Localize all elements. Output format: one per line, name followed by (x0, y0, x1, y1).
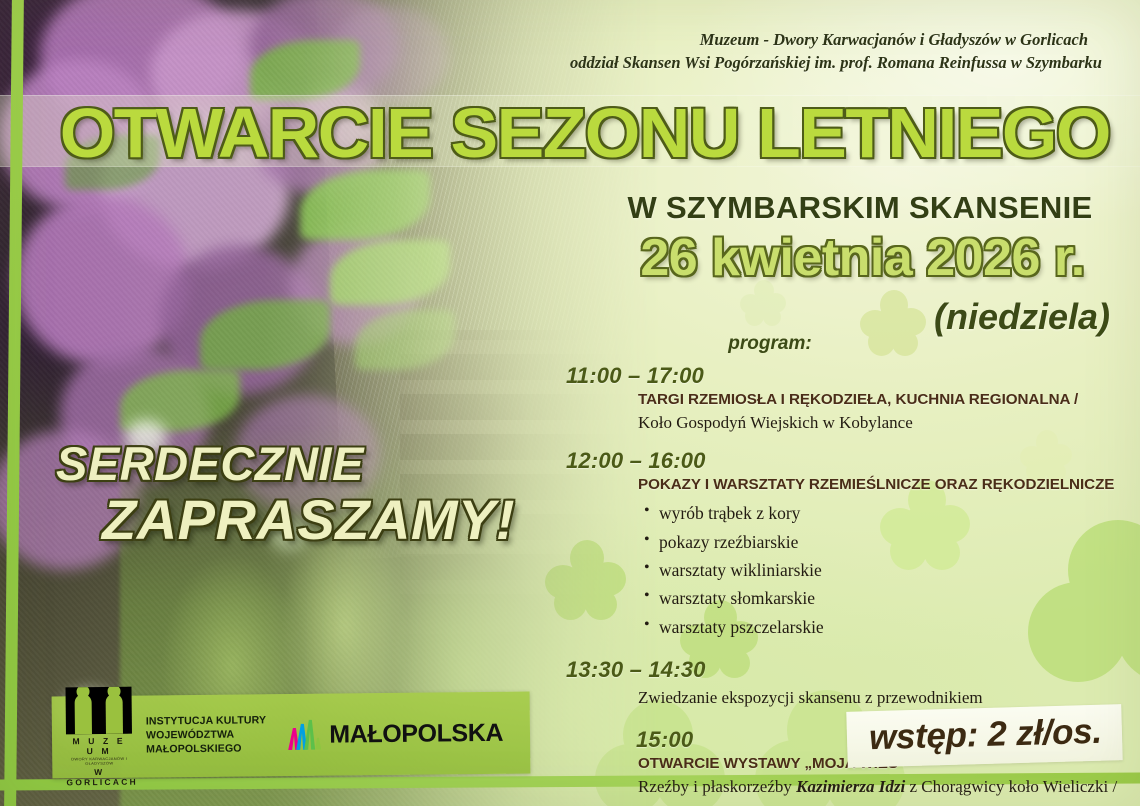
malopolska-wordmark: MAŁOPOLSKA (329, 718, 503, 749)
museum-logo-subline: DWORY KARWACJANÓW I GŁADYSZÓW (66, 756, 132, 766)
program-title: TARGI RZEMIOSŁA I RĘKODZIEŁA, KUCHNIA RE… (566, 391, 1126, 408)
malopolska-logo: MAŁOPOLSKA (288, 718, 503, 750)
institution-line-2: WOJEWÓDZTWA (146, 728, 266, 743)
museum-logo-name: M U Z E U M (66, 736, 132, 757)
price-text: wstęp: 2 zł/os. (869, 712, 1103, 757)
event-date-text: 26 kwietnia 2026 r. (640, 228, 1084, 288)
malopolska-mark-icon (288, 720, 322, 750)
subtitle: W SZYMBARSKIM SKANSENIE (600, 190, 1120, 226)
poster: Muzeum - Dwory Karwacjanów i Gładyszów w… (0, 0, 1140, 806)
institution-line-3: MAŁOPOLSKIEGO (146, 742, 266, 757)
program-description: Rzeźby i płaskorzeźby Kazimierza Idzi z … (566, 773, 1126, 800)
program-time: 12:00 – 16:00 (566, 448, 1126, 474)
program-title: POKAZY I WARSZTATY RZEMIEŚLNICZE ORAZ RĘ… (566, 476, 1126, 493)
program-description-pre: Rzeźby i płaskorzeźby (638, 777, 796, 796)
welcome-line-2: ZAPRASZAMY! (56, 489, 586, 551)
program-bullet-list: wyrób trąbek z kory pokazy rzeźbiarskie … (566, 499, 1126, 641)
institution-text: INSTYTUCJA KULTURY WOJEWÓDZTWA MAŁOPOLSK… (146, 714, 267, 757)
museum-logo-city: W GORLICACH (66, 767, 132, 788)
page-title-text: OTWARCIE SEZONU LETNIEGO (60, 96, 1110, 170)
footer-logo-bar: M U Z E U M DWORY KARWACJANÓW I GŁADYSZÓ… (52, 691, 531, 778)
list-item: warsztaty pszczelarskie (644, 613, 1126, 641)
welcome-headline: SERDECZNIE ZAPRASZAMY! (56, 437, 586, 551)
organizer-header: Muzeum - Dwory Karwacjanów i Gładyszów w… (402, 28, 1102, 75)
price-badge: wstęp: 2 zł/os. (846, 704, 1122, 768)
list-item: wyrób trąbek z kory (644, 499, 1126, 527)
program-time: 13:30 – 14:30 (566, 657, 1126, 683)
program-time: 11:00 – 17:00 (566, 363, 1126, 389)
artist-name: Kazimierza Idzi (796, 777, 905, 796)
page-title: OTWARCIE SEZONU LETNIEGO (70, 96, 1070, 170)
list-item: pokazy rzeźbiarskie (644, 528, 1126, 556)
museum-figures-icon (65, 687, 131, 735)
list-item: warsztaty słomkarskie (644, 584, 1126, 612)
program-description: Koło Gospodyń Wiejskich w Kobylance (566, 409, 1126, 436)
program-item: 12:00 – 16:00 POKAZY I WARSZTATY RZEMIEŚ… (566, 448, 1126, 641)
welcome-line-1: SERDECZNIE (56, 437, 586, 491)
organizer-line-2: oddział Skansen Wsi Pogórzańskiej im. pr… (402, 51, 1102, 74)
program-item: 11:00 – 17:00 TARGI RZEMIOSŁA I RĘKODZIE… (566, 363, 1126, 436)
event-date: 26 kwietnia 2026 r. (600, 228, 1125, 288)
organizer-line-1: Muzeum - Dwory Karwacjanów i Gładyszów w… (402, 28, 1102, 51)
list-item: warsztaty wikliniarskie (644, 556, 1126, 584)
institution-line-1: INSTYTUCJA KULTURY (146, 714, 266, 729)
program-item: 13:30 – 14:30 Zwiedzanie ekspozycji skan… (566, 657, 1126, 711)
museum-logo: M U Z E U M DWORY KARWACJANÓW I GŁADYSZÓ… (65, 687, 132, 788)
program-label: program: (600, 333, 940, 355)
program-description-post: z Chorągwicy koło Wieliczki / (905, 777, 1117, 796)
program-description-line-2: Chałupa z Gródka (566, 801, 1126, 806)
event-weekday: (niedziela) (934, 296, 1110, 338)
